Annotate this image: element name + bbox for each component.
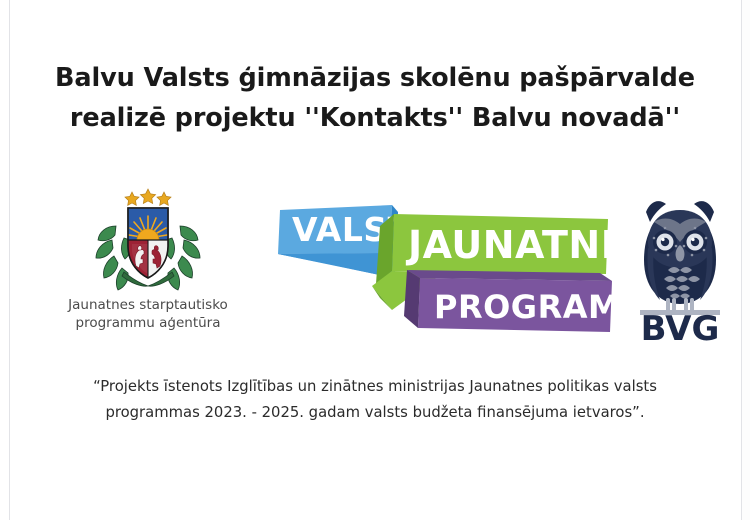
title-line-2: realizē projektu ''Kontakts'' Balvu nova…: [0, 98, 750, 138]
bvg-logo: BVĢ: [620, 182, 740, 342]
bvg-monogram: BVĢ: [641, 309, 720, 342]
logo-row: Jaunatnes starptautisko programmu aģentū…: [0, 178, 750, 348]
quote-line-2: programmas 2023. - 2025. gadam valsts bu…: [0, 400, 750, 426]
quote-line-1: “Projekts īstenots Izglītības un zinātne…: [0, 374, 750, 400]
owl-icon: [640, 201, 720, 315]
title-line-1: Balvu Valsts ģimnāzijas skolēnu pašpārva…: [0, 58, 750, 98]
page-title: Balvu Valsts ģimnāzijas skolēnu pašpārva…: [0, 58, 750, 138]
valsts-jaunatnes-programma-logo: VALSTS JAUNATNES PROGRAMMA: [268, 192, 618, 334]
latvian-coat-of-arms-icon: [90, 180, 206, 292]
purple-bubble-label: PROGRAMMA: [434, 288, 618, 326]
green-bubble-label: JAUNATNES: [405, 223, 618, 267]
project-funding-note: “Projekts īstenots Izglītības un zinātne…: [0, 374, 750, 426]
jspa-logo: Jaunatnes starptautisko programmu aģentū…: [38, 178, 258, 346]
jspa-caption-line-2: programmu aģentūra: [38, 314, 258, 332]
poster-page: Balvu Valsts ģimnāzijas skolēnu pašpārva…: [0, 0, 750, 520]
jspa-caption: Jaunatnes starptautisko programmu aģentū…: [38, 296, 258, 332]
jspa-caption-line-1: Jaunatnes starptautisko: [38, 296, 258, 314]
